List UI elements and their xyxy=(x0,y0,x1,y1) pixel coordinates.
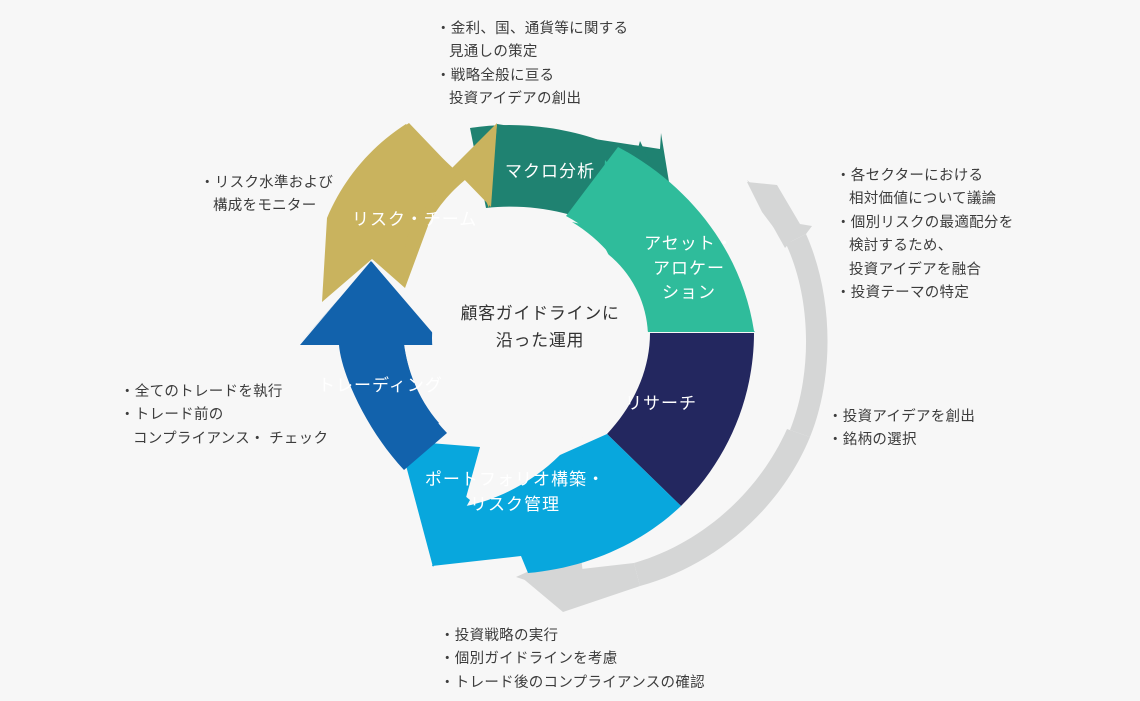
diagram-canvas: マクロ分析 アセット・ アロケー ション リサーチ ポートフォリオ構築・ リスク… xyxy=(0,0,1140,701)
note-macro: ・金利、国、通貨等に関する 見通しの策定 ・戦略全般に亘る 投資アイデアの創出 xyxy=(436,18,628,112)
note-research: ・投資アイデアを創出 ・銘柄の選択 xyxy=(828,406,975,453)
note-risk-team: ・リスク水準および 構成をモニター xyxy=(200,172,333,219)
note-asset-allocation: ・各セクターにおける 相対価値について議論 ・個別リスクの最適配分を 検討するた… xyxy=(836,165,1013,306)
note-trading: ・全てのトレードを執行 ・トレード前の コンプライアンス・ チェック xyxy=(120,381,328,451)
cycle-center-label: 顧客ガイドラインに 沿った運用 xyxy=(440,300,640,354)
note-portfolio: ・投資戦略の実行 ・個別ガイドラインを考慮 ・トレード後のコンプライアンスの確認 xyxy=(440,625,705,695)
cycle-arrow-right xyxy=(747,180,828,437)
